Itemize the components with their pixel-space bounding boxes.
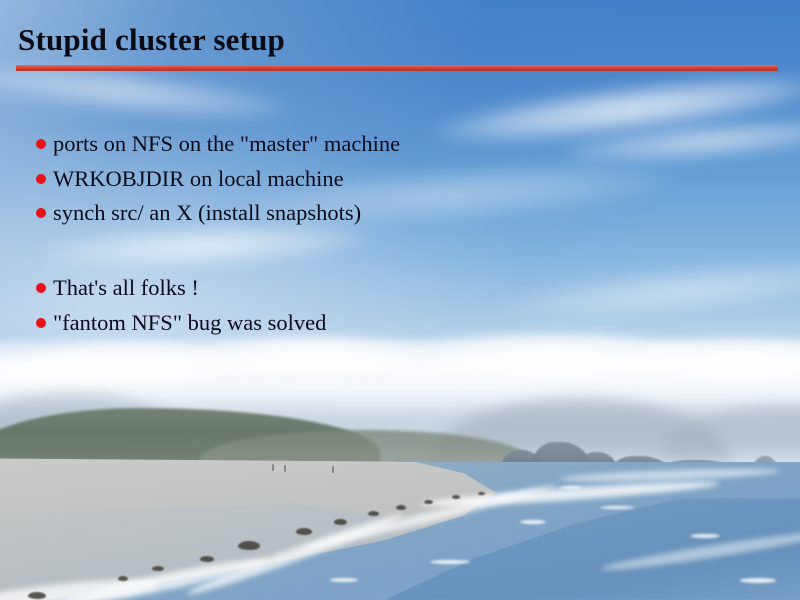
bullet-dot-icon — [36, 139, 46, 149]
presentation-slide: Stupid cluster setup ports on NFS on the… — [0, 0, 800, 600]
list-item[interactable]: ports on NFS on the "master" machine — [36, 133, 400, 156]
bullet-dot-icon — [36, 174, 46, 184]
list-item-label: WRKOBJDIR on local machine — [53, 168, 344, 191]
bullet-dot-icon — [36, 318, 46, 328]
slide-title: Stupid cluster setup — [18, 23, 285, 57]
slide-content: Stupid cluster setup ports on NFS on the… — [0, 0, 800, 600]
bullet-dot-icon — [36, 283, 46, 293]
list-item[interactable]: "fantom NFS" bug was solved — [36, 312, 326, 335]
bullet-dot-icon — [36, 208, 46, 218]
list-item[interactable]: synch src/ an X (install snapshots) — [36, 202, 361, 225]
list-item-label: ports on NFS on the "master" machine — [53, 133, 400, 156]
list-item-label: "fantom NFS" bug was solved — [53, 312, 326, 335]
list-item[interactable]: That's all folks ! — [36, 277, 199, 300]
title-underline-rule — [16, 65, 778, 71]
list-item-label: That's all folks ! — [53, 277, 199, 300]
list-item-label: synch src/ an X (install snapshots) — [53, 202, 361, 225]
list-item[interactable]: WRKOBJDIR on local machine — [36, 168, 344, 191]
